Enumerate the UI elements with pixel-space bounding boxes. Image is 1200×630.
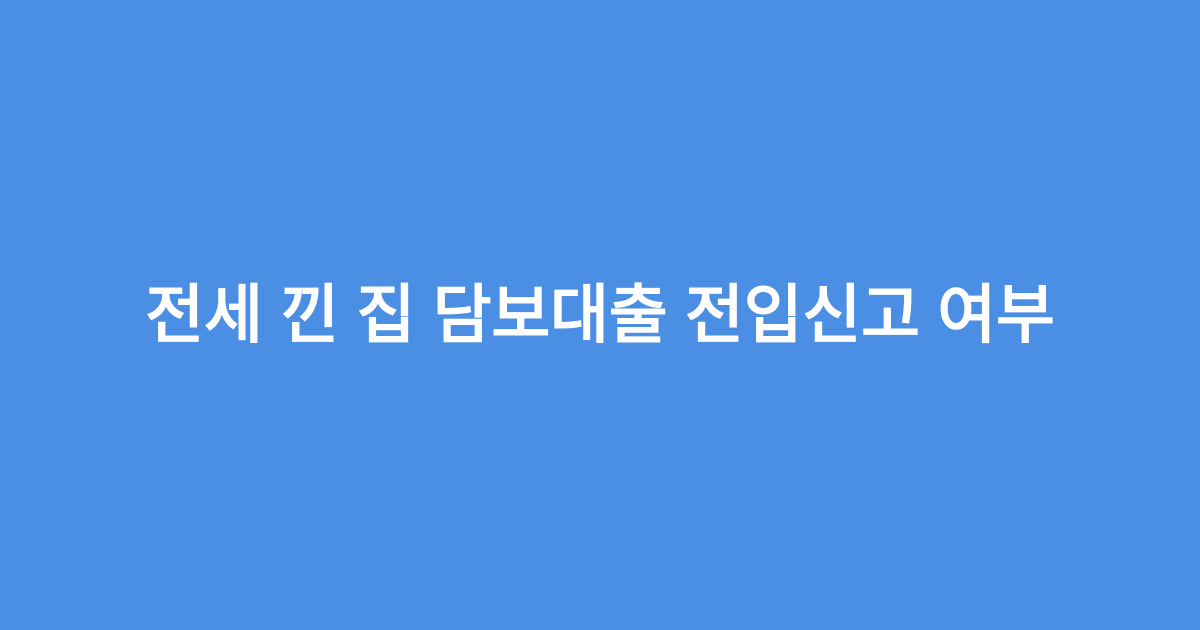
og-image-card: 전세 낀 집 담보대출 전입신고 여부	[0, 0, 1200, 630]
headline-container: 전세 낀 집 담보대출 전입신고 여부	[80, 276, 1120, 354]
page-title: 전세 낀 집 담보대출 전입신고 여부	[100, 276, 1100, 354]
